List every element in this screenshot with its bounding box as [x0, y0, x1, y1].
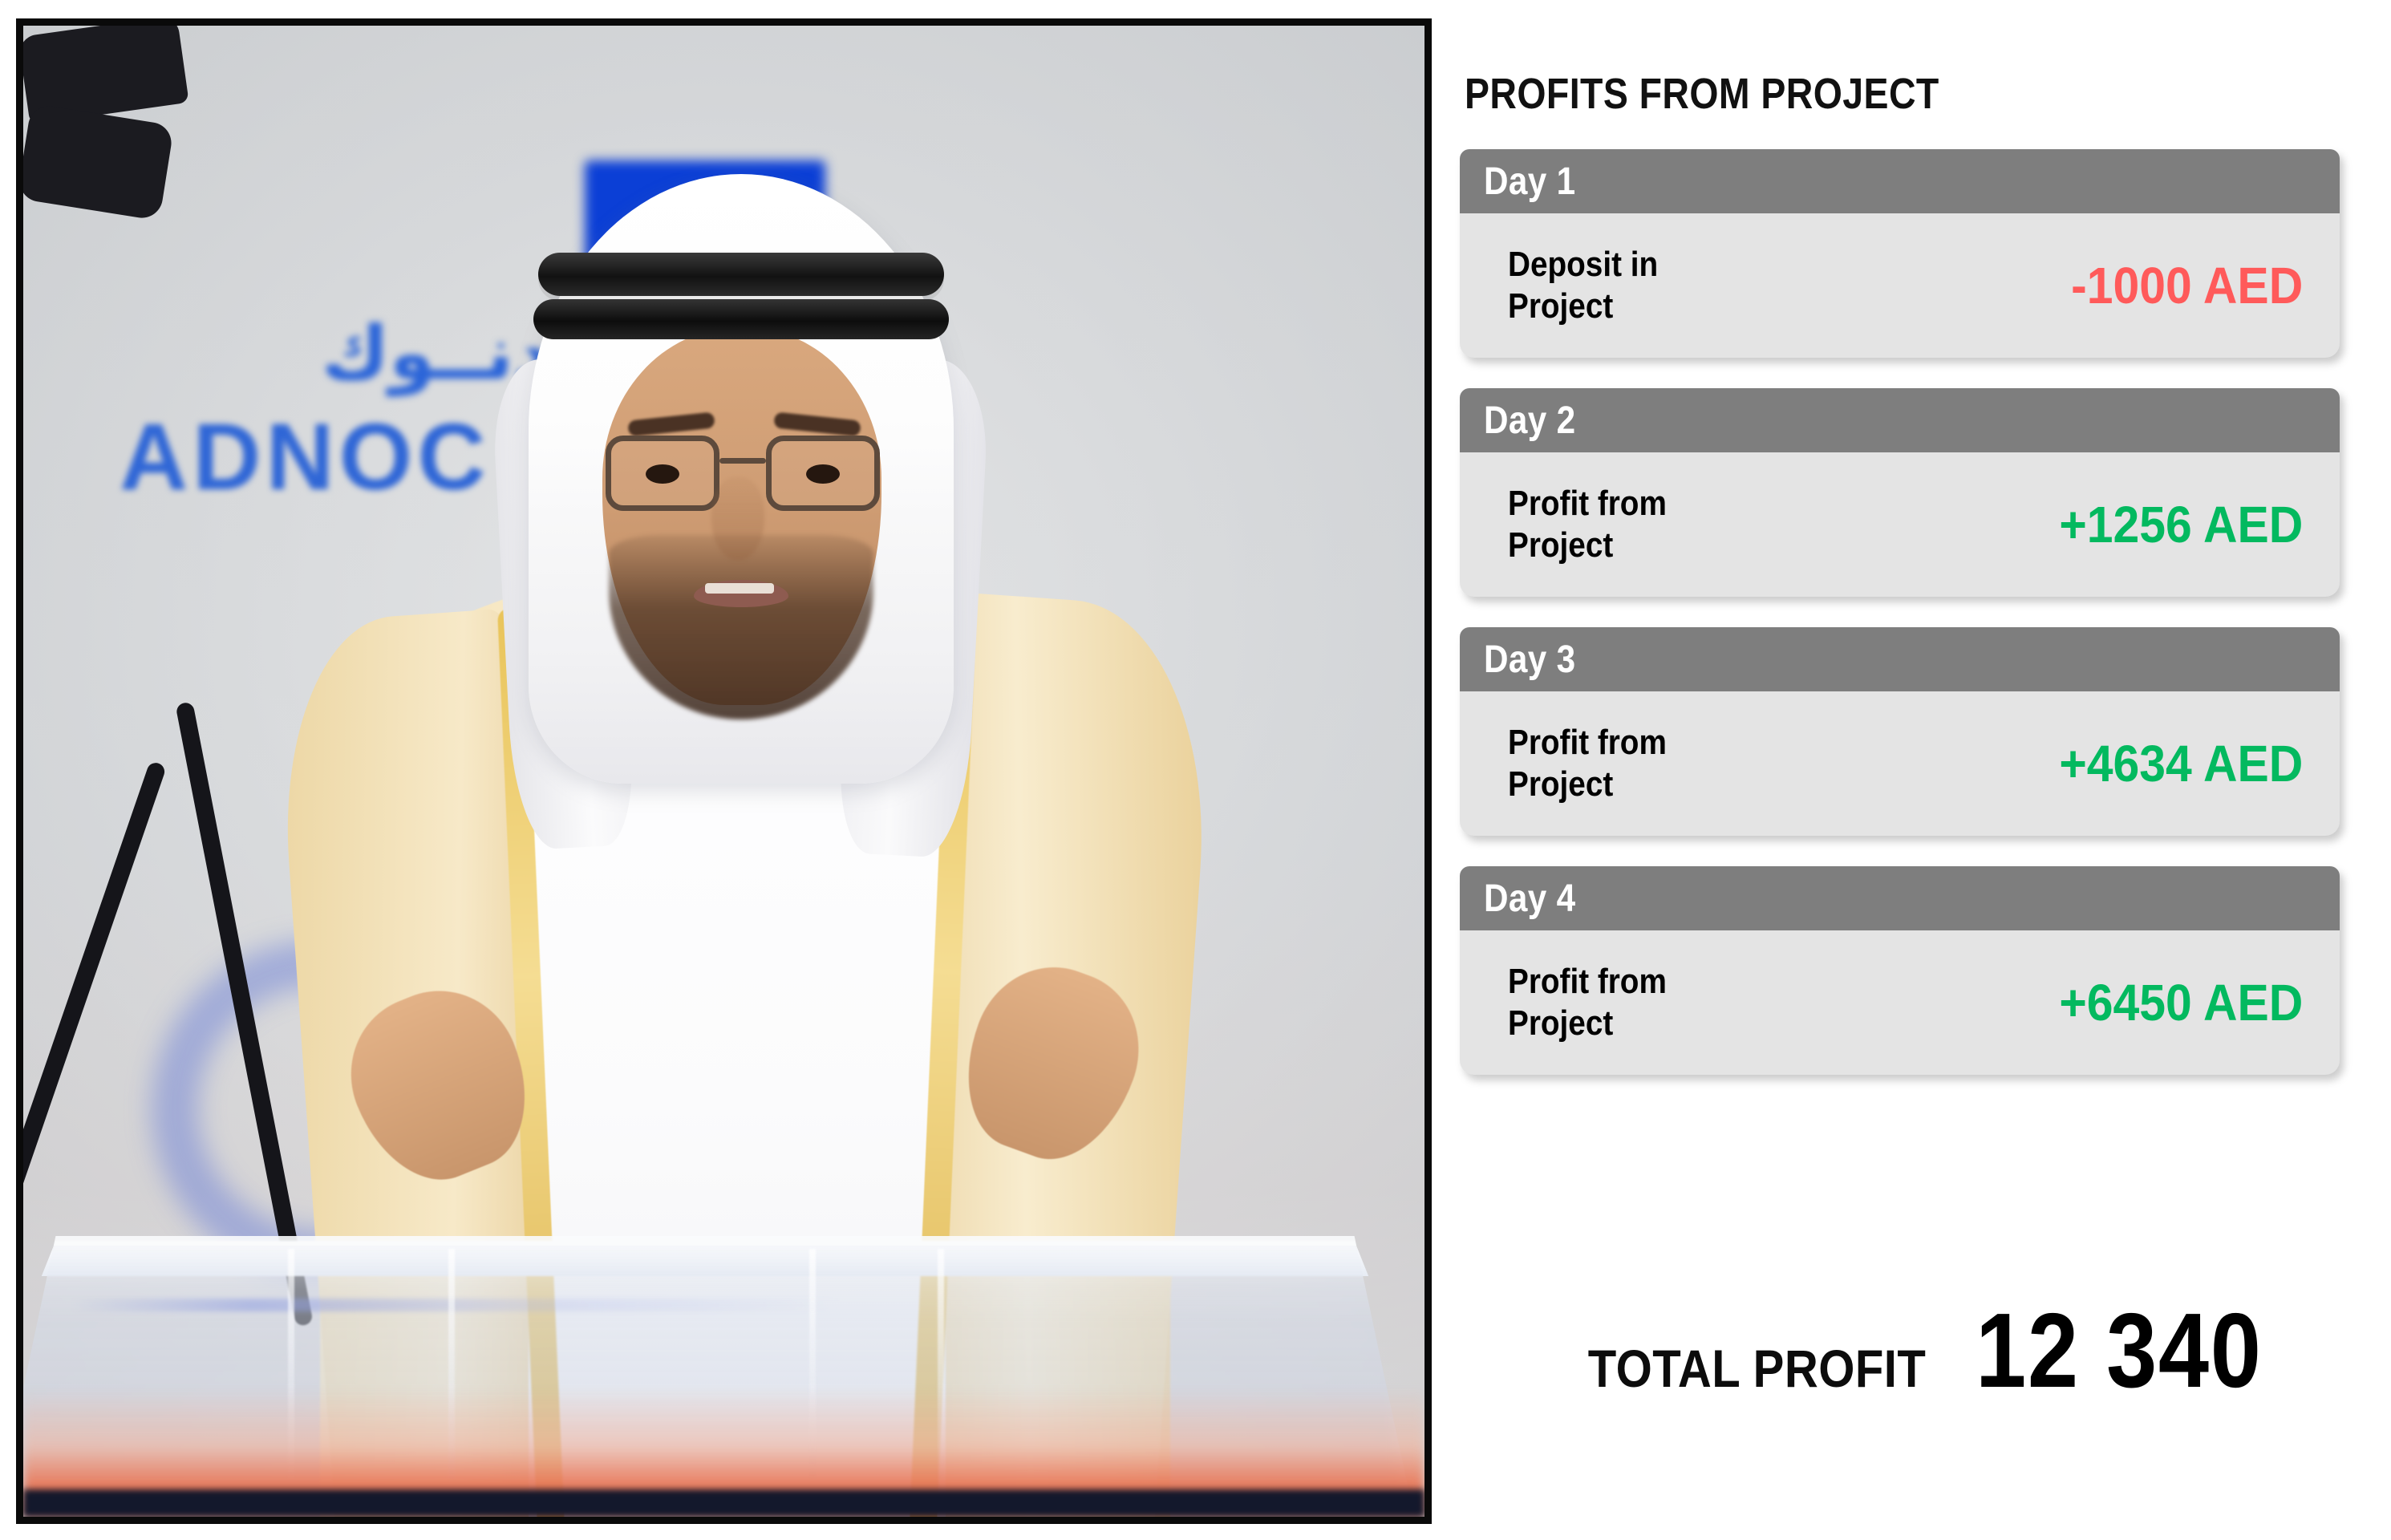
day-card-header: Day 2 — [1460, 388, 2340, 452]
day-amount: +6450 AED — [2059, 973, 2303, 1032]
day-description: Deposit in Project — [1508, 244, 1658, 327]
agal-cord-upper — [538, 253, 944, 296]
day-description: Profit from Project — [1508, 722, 1667, 805]
agal-cord-lower — [533, 299, 949, 339]
total-profit-section: TOTAL PROFIT 12 340 — [1460, 1275, 2391, 1411]
day-label: Day 3 — [1484, 638, 1575, 682]
nose — [711, 477, 764, 561]
day-description: Profit from Project — [1508, 961, 1667, 1044]
day-amount: +1256 AED — [2059, 495, 2303, 554]
day-card-header: Day 3 — [1460, 627, 2340, 691]
speaker-photo: أدنــوك ADNOC — [23, 26, 1424, 1517]
glasses-bridge — [719, 458, 766, 464]
day-card: Day 3 Profit from Project +4634 AED — [1460, 627, 2340, 836]
day-description: Profit from Project — [1508, 483, 1667, 566]
infographic-root: أدنــوك ADNOC — [0, 0, 2391, 1540]
day-card-body: Profit from Project +6450 AED — [1460, 930, 2340, 1075]
total-profit-value: 12 340 — [1976, 1290, 2263, 1411]
day-card-body: Profit from Project +1256 AED — [1460, 452, 2340, 597]
day-card-header: Day 4 — [1460, 866, 2340, 930]
day-amount: +4634 AED — [2059, 734, 2303, 793]
day-card: Day 1 Deposit in Project -1000 AED — [1460, 149, 2340, 358]
day-card-body: Deposit in Project -1000 AED — [1460, 213, 2340, 358]
day-card-header: Day 1 — [1460, 149, 2340, 213]
day-card-body: Profit from Project +4634 AED — [1460, 691, 2340, 836]
day-label: Day 4 — [1484, 877, 1575, 921]
profits-panel: PROFITS FROM PROJECT Day 1 Deposit in Pr… — [1460, 0, 2391, 1540]
teeth — [705, 583, 774, 594]
panel-title: PROFITS FROM PROJECT — [1465, 69, 1939, 119]
stage-floor-shadow — [23, 1489, 1424, 1517]
eye-left — [646, 464, 679, 484]
total-profit-label: TOTAL PROFIT — [1588, 1338, 1927, 1399]
day-card: Day 2 Profit from Project +1256 AED — [1460, 388, 2340, 597]
speaker-photo-frame: أدنــوك ADNOC — [16, 18, 1432, 1524]
day-card: Day 4 Profit from Project +6450 AED — [1460, 866, 2340, 1075]
day-amount: -1000 AED — [2071, 256, 2303, 315]
day-cards-list: Day 1 Deposit in Project -1000 AED Day 2… — [1460, 149, 2342, 1105]
eye-right — [806, 464, 840, 484]
day-label: Day 1 — [1484, 160, 1575, 204]
day-label: Day 2 — [1484, 399, 1575, 443]
mouth — [694, 580, 788, 607]
